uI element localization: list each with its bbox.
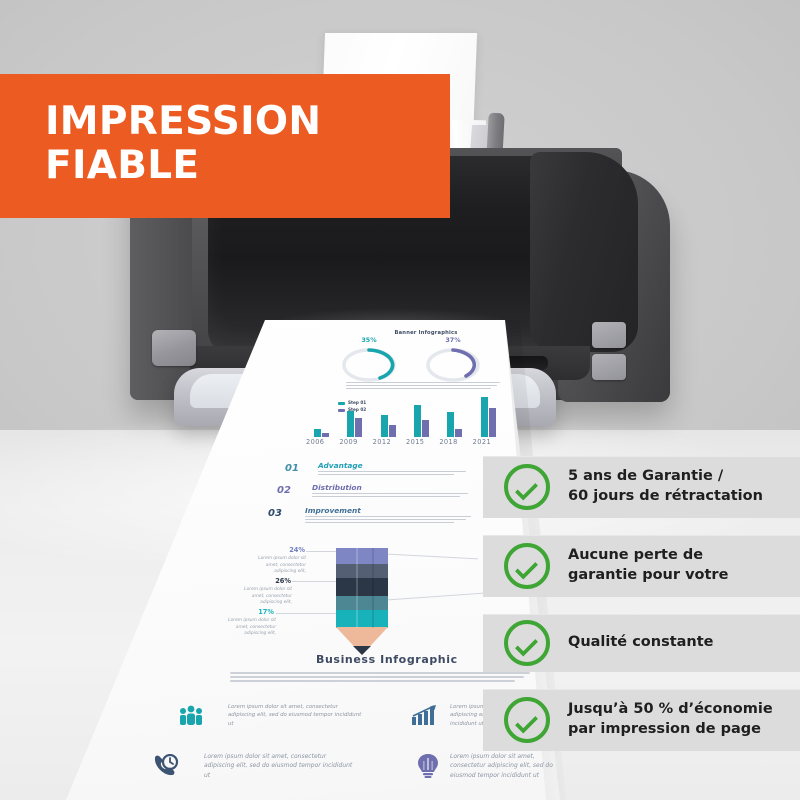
feature-text-2: Aucune perte de garantie pour votre	[568, 546, 728, 585]
icon-block-text-1: Lorem ipsum dolor sit amet, consectetur …	[228, 703, 364, 728]
pencil-leader-5	[388, 593, 484, 601]
headline-line-2: FIABLE	[45, 143, 199, 188]
headline-banner: IMPRESSION FIABLE	[0, 74, 450, 218]
pencil-text-1: Lorem ipsum dolor sit amet, consectetur …	[250, 556, 306, 576]
donut-2-value: 37%	[440, 336, 466, 344]
feature-text-3-line1: Qualité constante	[568, 633, 714, 653]
feature-text-3: Qualité constante	[568, 633, 714, 653]
bar-chart-year-labels: 200620092012201520182021	[300, 438, 520, 450]
year-label-2009: 2009	[339, 438, 357, 446]
phone-clock-icon	[152, 754, 180, 778]
feature-text-4-line1: Jusqu’à 50 % d’économie	[568, 700, 773, 720]
bar-2015-step-01	[414, 405, 421, 437]
pencil-text-2: Lorem ipsum dolor sit amet, consectetur …	[232, 587, 292, 607]
year-label-2021: 2021	[473, 438, 491, 446]
printed-page-content: Banner Infographics 35% 37% Step 01 Step…	[0, 320, 560, 800]
feature-text-4-line2: par impression de page	[568, 720, 773, 740]
check-circle-icon	[504, 620, 550, 666]
headline-text: IMPRESSION FIABLE	[0, 74, 450, 189]
pencil-segment-2	[336, 564, 388, 578]
donut-chart-1	[340, 345, 398, 385]
feature-text-4: Jusqu’à 50 % d’économie par impression d…	[568, 700, 773, 739]
bar-2018-step-01	[447, 412, 454, 437]
donut-1-value: 35%	[356, 336, 382, 344]
list-number-03: 03	[268, 508, 282, 519]
bar-2021-step-01	[481, 397, 488, 438]
feature-card-4[interactable]: Jusqu’à 50 % d’économie par impression d…	[483, 689, 800, 751]
product-banner-image: Banner Infographics 35% 37% Step 01 Step…	[0, 0, 800, 800]
feature-card-3[interactable]: Qualité constante	[483, 614, 800, 672]
printer-side-button-2	[592, 354, 626, 380]
icon-block-text-3: Lorem ipsum dolor sit amet, consectetur …	[204, 752, 354, 780]
pencil-leader-3	[276, 613, 336, 614]
pencil-segment-5	[336, 610, 388, 628]
lightbulb-icon	[417, 754, 439, 778]
feature-text-2-line2: garantie pour votre	[568, 566, 728, 586]
check-circle-icon	[504, 697, 550, 743]
list-number-02: 02	[277, 485, 291, 496]
bar-2006-step-01	[314, 429, 321, 437]
bar-2012-step-02	[389, 425, 396, 437]
list-number-01: 01	[285, 463, 299, 474]
feature-text-1-line2: 60 jours de rétractation	[568, 487, 763, 507]
people-icon	[178, 705, 204, 725]
pencil-text-3: Lorem ipsum dolor sit amet, consectetur …	[214, 618, 276, 638]
check-circle-icon	[504, 464, 550, 510]
infographic-banner-title: Banner Infographics	[366, 330, 486, 336]
bar-2009-step-02	[355, 418, 362, 437]
pencil-leader-2	[292, 581, 336, 582]
bar-2018-step-02	[455, 429, 462, 437]
infographic-section-title: Business Infographic	[316, 653, 458, 666]
pencil-segment-3	[336, 578, 388, 596]
list-heading-01: Advantage	[318, 461, 363, 470]
pencil-pct-1: 24%	[265, 546, 305, 554]
feature-text-1-line1: 5 ans de Garantie /	[568, 467, 763, 487]
bar-chart	[310, 392, 510, 437]
year-label-2018: 2018	[439, 438, 457, 446]
pencil-leader-4	[388, 554, 478, 560]
list-heading-03: Improvement	[305, 506, 361, 515]
list-heading-02: Distribution	[312, 483, 362, 492]
infographic-paragraph	[346, 382, 500, 391]
pencil-facet-line-1	[356, 548, 358, 628]
year-label-2012: 2012	[373, 438, 391, 446]
pencil-leader-1	[306, 551, 336, 552]
year-label-2006: 2006	[306, 438, 324, 446]
feature-text-2-line1: Aucune perte de	[568, 546, 728, 566]
feature-text-1: 5 ans de Garantie / 60 jours de rétracta…	[568, 467, 763, 506]
list-body-02	[312, 493, 468, 499]
list-body-01	[318, 471, 466, 477]
year-label-2015: 2015	[406, 438, 424, 446]
feature-list: 5 ans de Garantie / 60 jours de rétracta…	[483, 456, 800, 768]
bar-2006-step-02	[322, 433, 329, 438]
bar-2012-step-01	[381, 415, 388, 438]
pencil-pct-2: 26%	[245, 577, 291, 585]
headline-line-1: IMPRESSION	[45, 99, 321, 144]
pencil-pct-3: 17%	[228, 608, 274, 616]
bar-2009-step-01	[347, 411, 354, 437]
feature-card-1[interactable]: 5 ans de Garantie / 60 jours de rétracta…	[483, 456, 800, 518]
feature-card-2[interactable]: Aucune perte de garantie pour votre	[483, 535, 800, 597]
list-body-03	[305, 516, 471, 525]
donut-chart-2	[424, 345, 482, 385]
pencil-segment-4	[336, 596, 388, 610]
bar-2015-step-02	[422, 420, 429, 437]
bar-2021-step-02	[489, 408, 496, 437]
pencil-facet-line-2	[372, 548, 374, 628]
bar-growth-icon	[412, 705, 438, 725]
printer-side-button-1	[592, 322, 626, 348]
pencil-segment-1	[336, 548, 388, 564]
check-circle-icon	[504, 543, 550, 589]
